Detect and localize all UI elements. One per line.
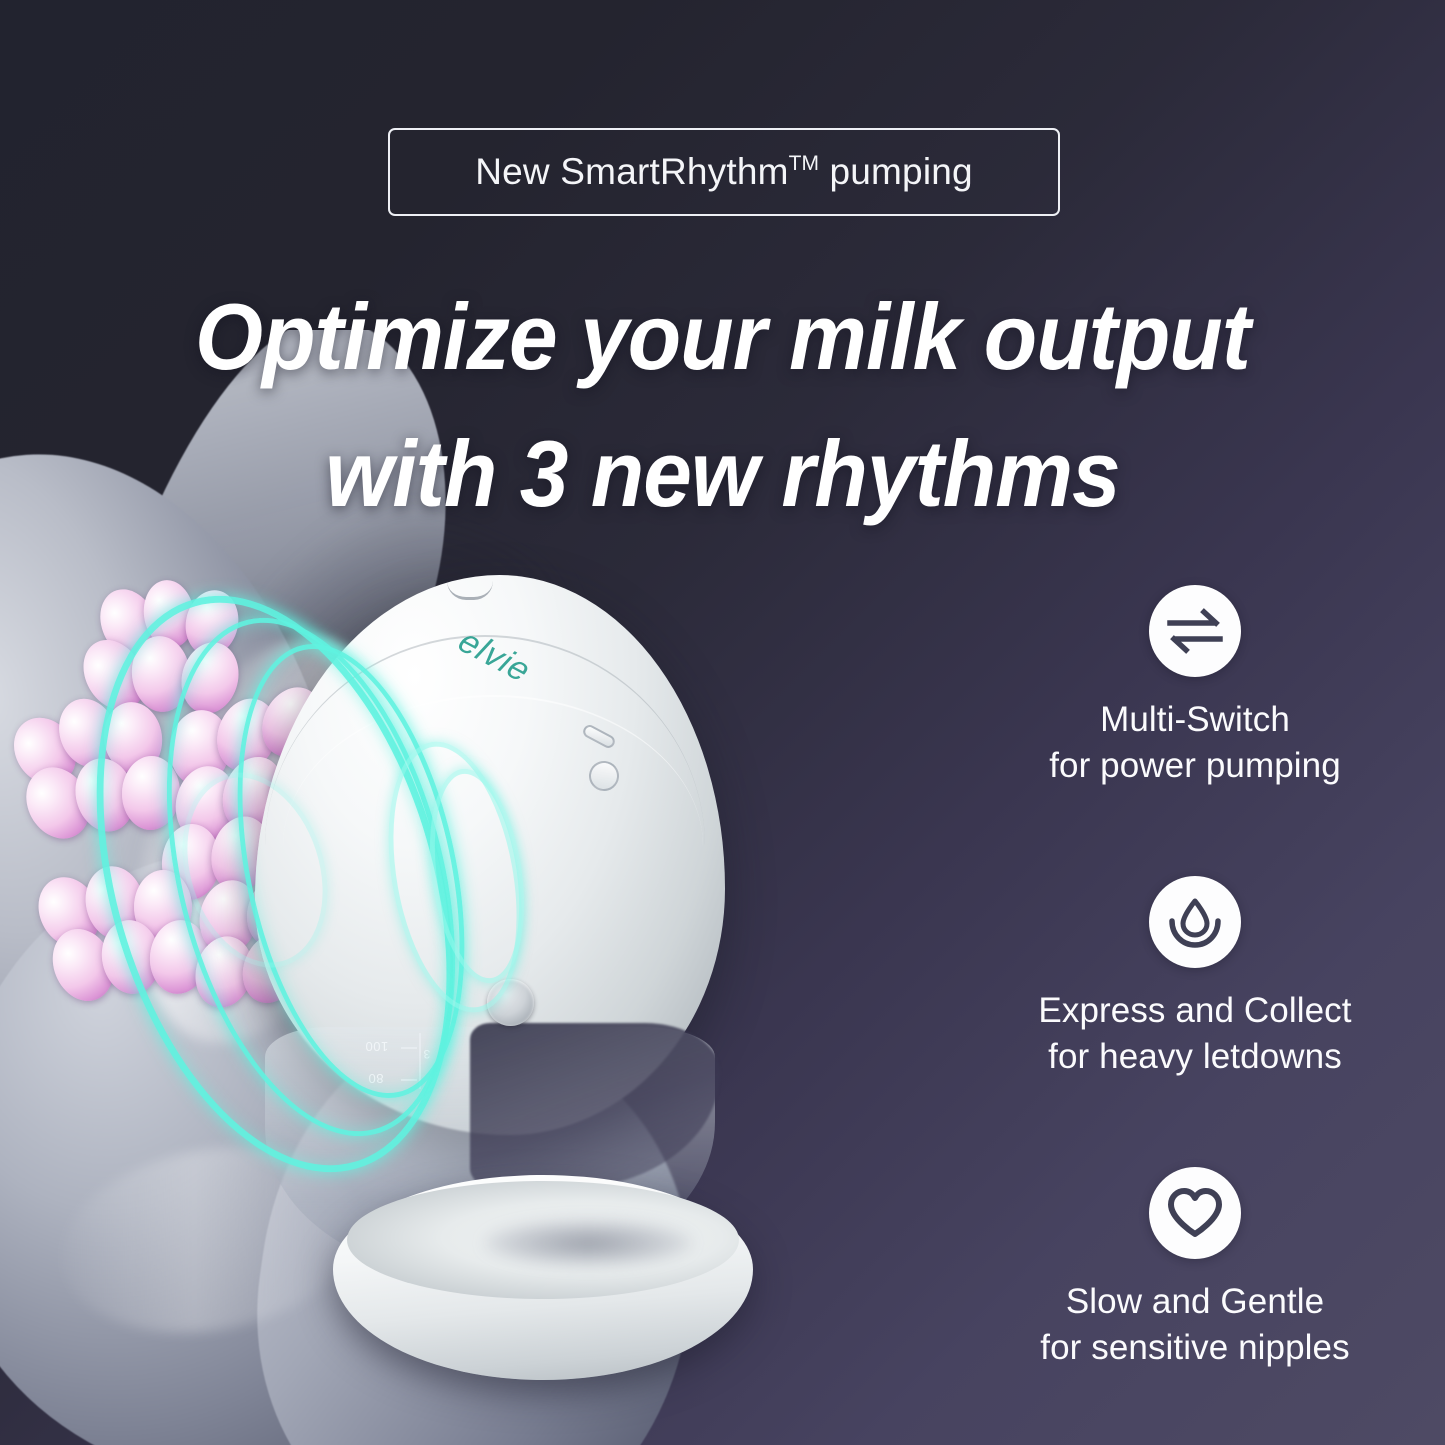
feature-subtitle: for power pumping (981, 743, 1409, 789)
feature-express-collect: Express and Collect for heavy letdowns (981, 876, 1409, 1079)
feature-title: Express and Collect (1038, 991, 1351, 1030)
feature-title: Multi-Switch (1100, 700, 1290, 739)
headline-line-2: with 3 new rhythms (51, 405, 1395, 542)
milk-swirl (483, 1219, 693, 1267)
feature-text: Multi-Switch for power pumping (981, 697, 1409, 788)
feature-text: Slow and Gentle for sensitive nipples (981, 1279, 1409, 1370)
droplet-collect-icon (1149, 876, 1241, 968)
promo-badge-label: New SmartRhythmTM pumping (475, 151, 973, 193)
promo-badge: New SmartRhythmTM pumping (388, 128, 1060, 216)
badge-label-before: New SmartRhythm (475, 151, 788, 192)
feature-title: Slow and Gentle (1066, 1282, 1324, 1321)
headline-line-1: Optimize your milk output (51, 268, 1395, 405)
feature-text: Express and Collect for heavy letdowns (981, 988, 1409, 1079)
feature-multi-switch: Multi-Switch for power pumping (981, 585, 1409, 788)
feature-subtitle: for heavy letdowns (981, 1034, 1409, 1080)
page-headline: Optimize your milk output with 3 new rhy… (51, 268, 1395, 542)
promo-banner: elvie 100 3 80 New S (0, 0, 1445, 1445)
trademark-symbol: TM (789, 152, 819, 175)
feature-slow-gentle: Slow and Gentle for sensitive nipples (981, 1167, 1409, 1370)
feature-list: Multi-Switch for power pumping Express a… (981, 585, 1409, 1370)
feature-subtitle: for sensitive nipples (981, 1325, 1409, 1371)
heart-icon (1149, 1167, 1241, 1259)
swap-arrows-icon (1149, 585, 1241, 677)
badge-label-after: pumping (819, 151, 973, 192)
